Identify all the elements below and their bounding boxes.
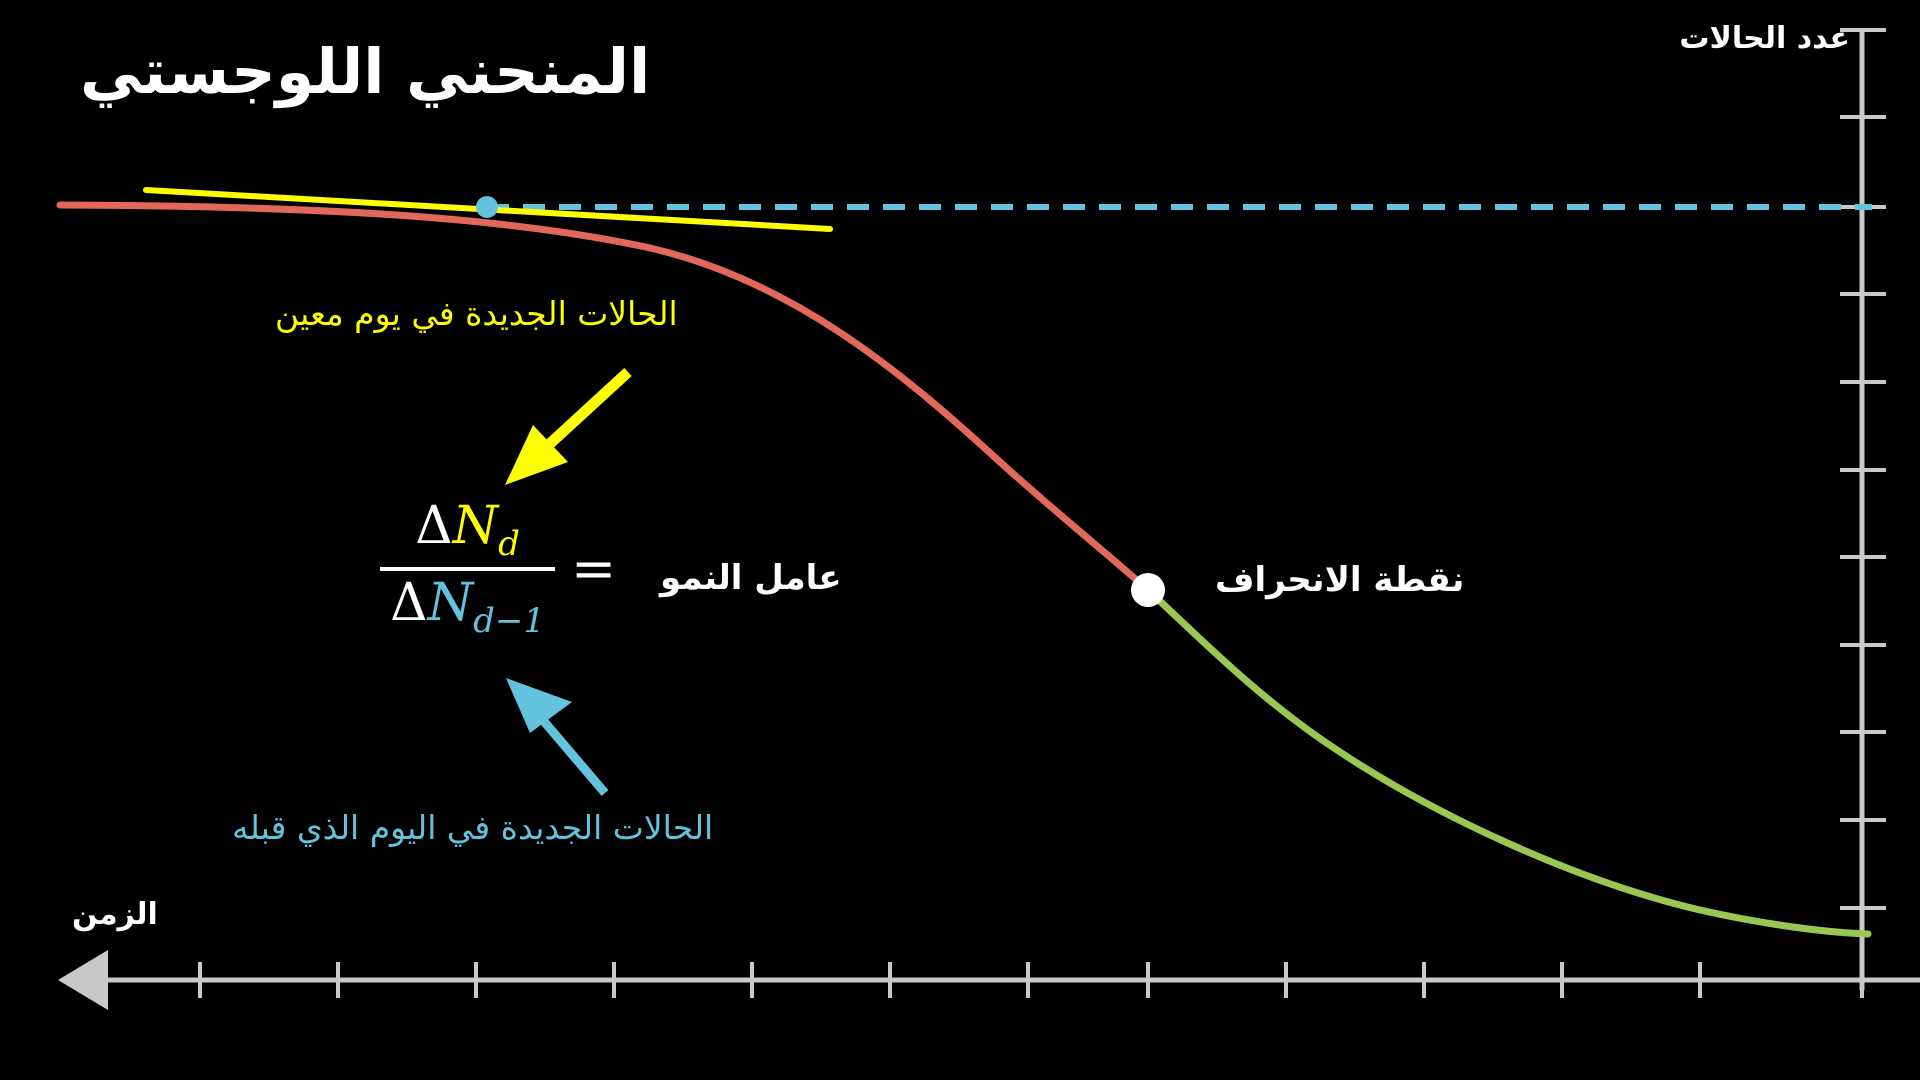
yellow-annotation-arrow — [505, 372, 628, 485]
inflection-point-label: نقطة الانحراف — [1215, 562, 1464, 599]
fraction-denominator: ΔNd−1 — [380, 575, 555, 640]
delta-symbol-denominator: Δ — [390, 573, 428, 633]
fraction-numerator: ΔNd — [405, 498, 530, 563]
x-axis — [58, 950, 1920, 1010]
n-symbol-denominator: N — [428, 573, 474, 633]
n-subscript-denominator: d−1 — [473, 601, 545, 641]
fraction: ΔNd ΔNd−1 — [380, 498, 555, 640]
new-cases-previous-day-label: الحالات الجديدة في اليوم الذي قبله — [232, 810, 713, 846]
tangent-point-marker — [476, 196, 498, 218]
inflection-point-marker — [1131, 573, 1165, 607]
page-title: المنحني اللوجستي — [80, 38, 650, 106]
new-cases-today-label: الحالات الجديدة في يوم معين — [275, 296, 678, 332]
y-axis-label: عدد الحالات — [1679, 22, 1850, 55]
chart-canvas — [0, 0, 1920, 1080]
blue-annotation-arrow — [506, 678, 605, 793]
curve-lower-segment — [1148, 590, 1868, 934]
n-symbol-numerator: N — [453, 496, 499, 556]
n-subscript-numerator: d — [498, 524, 520, 564]
growth-factor-equation: ΔNd ΔNd−1 = — [380, 498, 632, 640]
equals-sign: = — [571, 537, 616, 600]
x-axis-label: الزمن — [72, 898, 158, 931]
delta-symbol-numerator: Δ — [415, 496, 453, 556]
growth-factor-label: عامل النمو — [660, 560, 842, 597]
logistic-curve-figure: المنحني اللوجستي عدد الحالات الزمن نقطة … — [0, 0, 1920, 1080]
y-axis — [1840, 28, 1886, 990]
fraction-bar — [380, 567, 555, 571]
time-arrow-icon — [58, 950, 108, 1010]
